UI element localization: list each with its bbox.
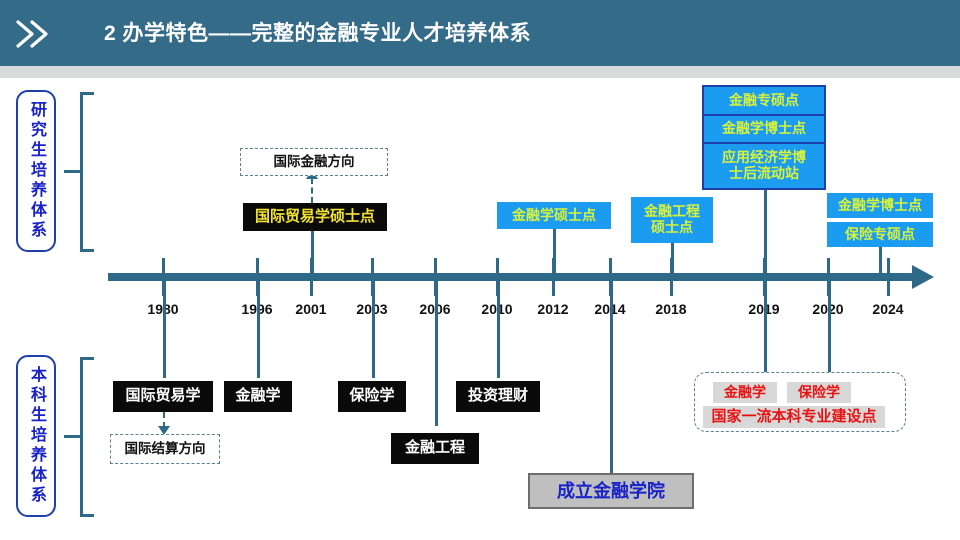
- tick-up-2020: [827, 258, 830, 274]
- header-divider-strip: [0, 66, 960, 78]
- connector-2006-lower-a: [497, 281, 500, 378]
- node-graduate-2[interactable]: 金融学硕士点: [497, 202, 611, 229]
- chip-major-0: 金融学: [713, 382, 777, 403]
- timeline-axis: [108, 273, 916, 281]
- tick-up-2024: [887, 258, 890, 274]
- connector-2018-upper: [671, 243, 674, 275]
- group-2019-row-0: 金融专硕点: [704, 87, 824, 116]
- node-establish-school[interactable]: 成立金融学院: [528, 473, 694, 509]
- tick-down-2024: [887, 281, 890, 296]
- node-undergraduate-1[interactable]: 金融学: [224, 381, 292, 412]
- tick-up-2014: [609, 258, 612, 274]
- year-label-2012: 2012: [537, 301, 568, 317]
- group-2019-stack[interactable]: 金融专硕点 金融学博士点 应用经济学博 士后流动站: [702, 85, 826, 190]
- group-2019-row-1: 金融学博士点: [704, 116, 824, 144]
- bracket-stem-graduate: [64, 170, 80, 173]
- sidebar-label-graduate: 研究生培养体系: [16, 90, 56, 252]
- dashed-connector-2001-up: [311, 178, 313, 203]
- tick-down-2012: [552, 281, 555, 296]
- year-label-2001: 2001: [295, 301, 326, 317]
- bracket-undergraduate: [80, 357, 94, 517]
- node-graduate-0[interactable]: 国际金融方向: [240, 148, 388, 176]
- node-undergraduate-3[interactable]: 投资理财: [456, 381, 540, 412]
- page-title: 2 办学特色——完整的金融专业人才培养体系: [104, 17, 531, 51]
- group-2019-row-2: 应用经济学博 士后流动站: [704, 144, 824, 188]
- tick-down-2001: [310, 281, 313, 296]
- slide-canvas: 2 办学特色——完整的金融专业人才培养体系 研究生培养体系 本科生培养体系 19…: [0, 0, 960, 540]
- connector-1996-lower: [257, 281, 260, 378]
- node-undergraduate-4[interactable]: 金融工程: [391, 433, 479, 464]
- connector-2003-lower: [372, 281, 375, 378]
- connector-2024-upper: [879, 247, 882, 275]
- double-chevron-right-icon: [12, 17, 56, 51]
- tick-up-1996: [256, 258, 259, 274]
- node-undergraduate-2[interactable]: 保险学: [338, 381, 406, 412]
- tick-up-2006: [434, 258, 437, 274]
- connector-2020-lower: [828, 281, 831, 373]
- timeline-arrow-icon: [912, 265, 934, 289]
- connector-2019-upper: [764, 190, 767, 275]
- bracket-stem-undergraduate: [64, 435, 80, 438]
- year-label-2018: 2018: [655, 301, 686, 317]
- year-label-2024: 2024: [872, 301, 903, 317]
- node-undergraduate-5[interactable]: 国际结算方向: [110, 434, 220, 464]
- connector-2006-lower-b: [435, 281, 438, 426]
- connector-2014-lower: [610, 281, 613, 473]
- connector-1980-lower: [163, 281, 166, 378]
- tick-up-1980: [162, 258, 165, 274]
- tick-down-2018: [670, 281, 673, 296]
- bracket-graduate: [80, 92, 94, 252]
- connector-2001-upper: [311, 231, 314, 275]
- chip-major-1: 保险学: [787, 382, 851, 403]
- connector-2012-upper: [553, 229, 556, 275]
- node-undergraduate-0[interactable]: 国际贸易学: [113, 381, 213, 412]
- node-graduate-1[interactable]: 国际贸易学硕士点: [243, 203, 387, 231]
- tick-up-2010: [496, 258, 499, 274]
- chip-major-caption: 国家一流本科专业建设点: [703, 406, 885, 428]
- node-graduate-4[interactable]: 金融学博士点: [827, 193, 933, 218]
- node-graduate-5[interactable]: 保险专硕点: [827, 222, 933, 247]
- connector-2019-lower: [764, 281, 767, 373]
- tick-up-2003: [371, 258, 374, 274]
- sidebar-label-undergraduate: 本科生培养体系: [16, 355, 56, 517]
- node-graduate-3[interactable]: 金融工程 硕士点: [631, 197, 713, 243]
- group-first-class-major[interactable]: 金融学 保险学 国家一流本科专业建设点: [694, 372, 906, 432]
